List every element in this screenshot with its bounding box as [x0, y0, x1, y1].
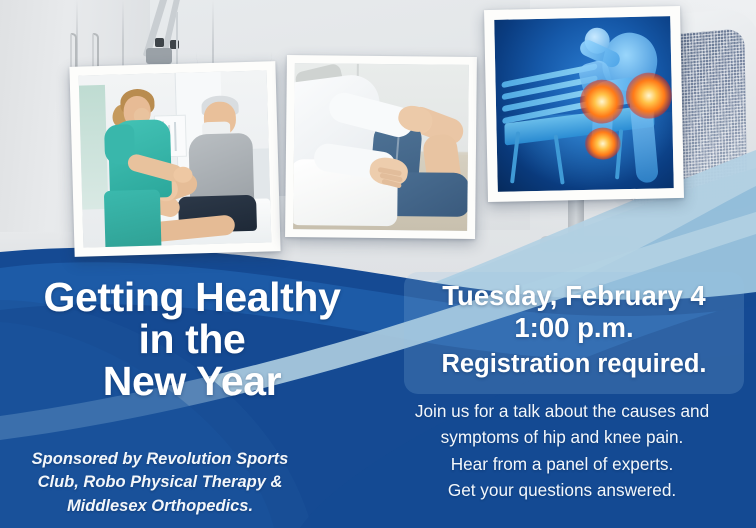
sponsor-line-2: Club, Robo Physical Therapy & [38, 473, 283, 491]
equipment-knob [155, 38, 164, 47]
photo3-knee-pain-glow-icon [579, 79, 624, 124]
photo-frame-anatomy-pain-points [484, 6, 684, 202]
sponsor-credit: Sponsored by Revolution Sports Club, Rob… [16, 448, 304, 518]
photo3-ankle-pain-glow-icon [585, 127, 622, 160]
event-date: Tuesday, February 4 [442, 280, 705, 311]
photo-image-anatomy-pain-points [494, 16, 674, 192]
equipment-housing [146, 48, 172, 64]
description-line-1: Join us for a talk about the causes and [372, 398, 752, 424]
photo3-anatomy-figure [568, 26, 661, 188]
description-line-3: Hear from a panel of experts. [372, 451, 752, 477]
event-details-text: Tuesday, February 4 1:00 p.m. Registrati… [404, 280, 744, 379]
equipment-cable [176, 12, 178, 70]
photo-frame-hip-knee-exam [285, 55, 477, 239]
headline-line-3: New Year [8, 360, 376, 402]
event-flyer: Getting Healthy in the New Year Sponsore… [0, 0, 756, 528]
photo-image-hip-knee-exam [293, 63, 469, 231]
event-description: Join us for a talk about the causes and … [372, 398, 752, 503]
photo1-therapist-scrubs-pants [104, 189, 162, 247]
headline-line-2: in the [8, 318, 376, 360]
headline-line-1: Getting Healthy [8, 276, 376, 318]
description-line-4: Get your questions answered. [372, 477, 752, 503]
registration-notice: Registration required. [404, 350, 744, 380]
sponsor-line-3: Middlesex Orthopedics. [67, 497, 253, 515]
office-chair-base [540, 236, 630, 252]
headline: Getting Healthy in the New Year [8, 276, 376, 403]
sponsor-line-1: Sponsored by Revolution Sports [32, 450, 289, 468]
photo-image-therapist-knee-exam [79, 70, 272, 247]
event-time: 1:00 p.m. [404, 312, 744, 344]
description-line-2: symptoms of hip and knee pain. [372, 424, 752, 450]
photo-frame-therapist-knee-exam [69, 61, 280, 257]
